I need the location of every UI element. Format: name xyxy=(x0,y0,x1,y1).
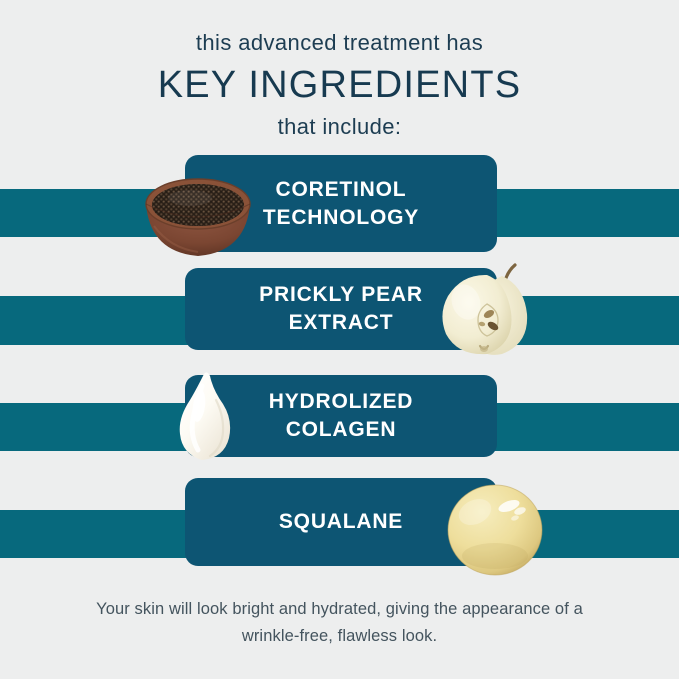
cream-dollop-icon xyxy=(166,370,244,466)
page-title: KEY INGREDIENTS xyxy=(0,62,679,108)
footer-line-1: Your skin will look bright and hydrated,… xyxy=(0,596,679,623)
ingredient-label: PRICKLY PEAR EXTRACT xyxy=(259,281,423,337)
header-line-top: this advanced treatment has xyxy=(0,28,679,58)
key-ingredients-poster: this advanced treatment has KEY INGREDIE… xyxy=(0,0,679,679)
poster-footer: Your skin will look bright and hydrated,… xyxy=(0,596,679,650)
header-line-sub: that include: xyxy=(0,112,679,142)
ingredient-label: SQUALANE xyxy=(279,508,403,536)
ingredient-label: HYDROLIZED COLAGEN xyxy=(269,388,414,444)
seed-bowl-icon xyxy=(140,168,256,260)
footer-line-2: wrinkle-free, flawless look. xyxy=(0,623,679,650)
ingredient-label: CORETINOL TECHNOLOGY xyxy=(263,176,419,232)
pear-half-icon xyxy=(432,262,536,362)
oil-capsule-icon xyxy=(443,478,547,578)
poster-header: this advanced treatment has KEY INGREDIE… xyxy=(0,28,679,142)
